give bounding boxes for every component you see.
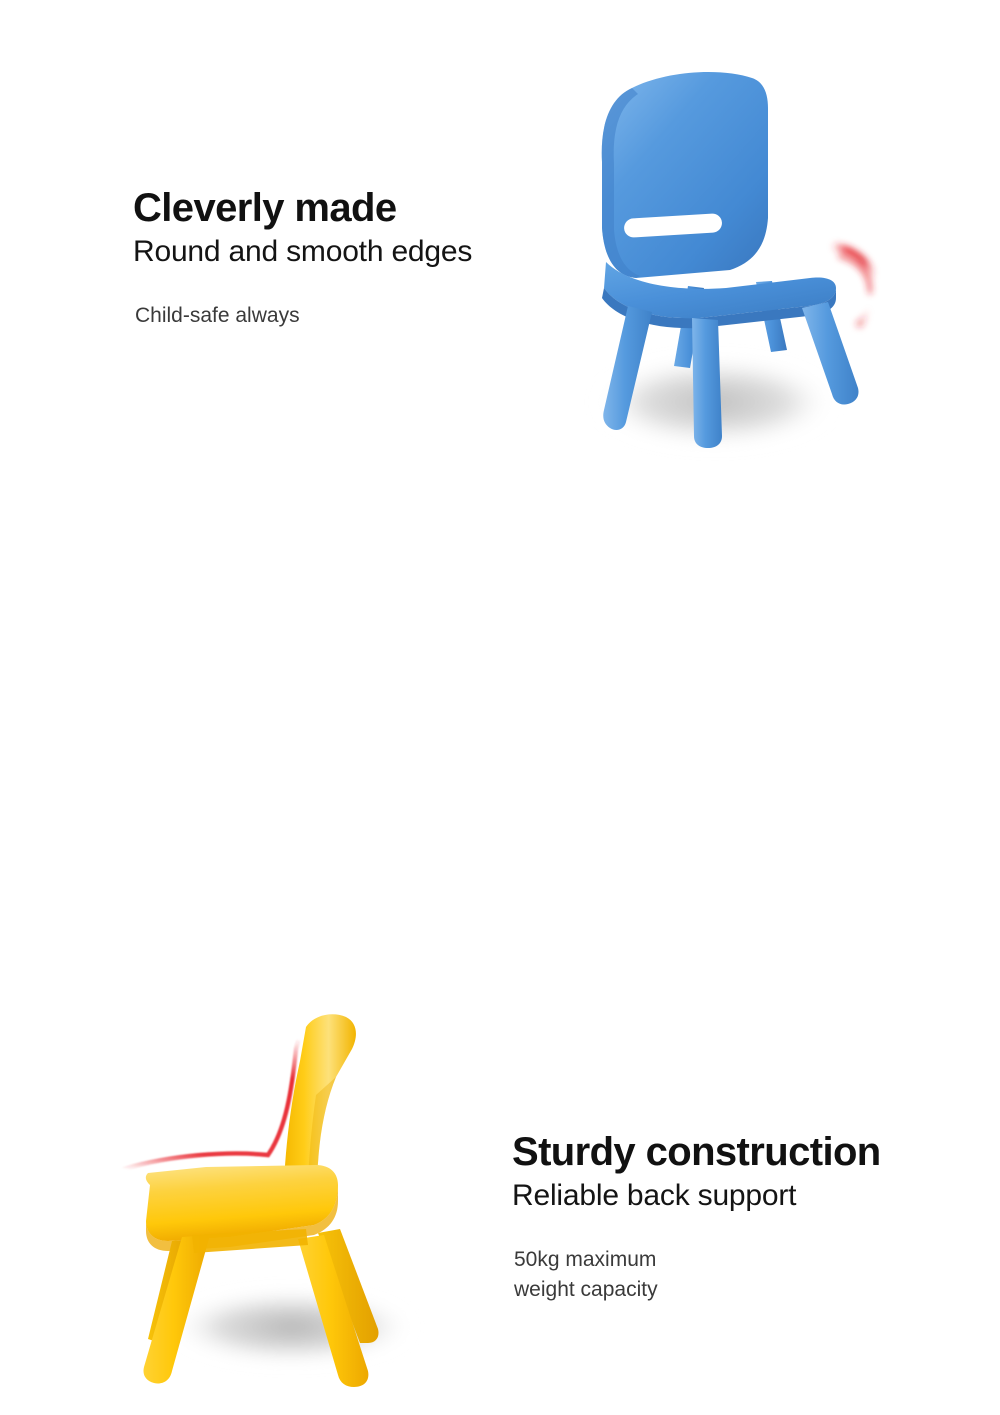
- text-block-cleverly-made: Cleverly made Round and smooth edges Chi…: [133, 188, 553, 331]
- panel-cleverly-made: Cleverly made Round and smooth edges Chi…: [0, 0, 1000, 500]
- panel-sturdy-construction: Sturdy construction Reliable back suppor…: [0, 500, 1000, 1000]
- subhead-sturdy-construction: Reliable back support: [512, 1178, 952, 1213]
- subhead-cleverly-made: Round and smooth edges: [133, 234, 553, 269]
- chair-leg-front-middle: [692, 318, 722, 448]
- body-text-sturdy-construction: 50kg maximum weight capacity: [514, 1245, 952, 1305]
- accent-arc-red: [832, 246, 876, 324]
- headline-sturdy-construction: Sturdy construction: [512, 1132, 952, 1174]
- product-image-yellow-chair: [110, 1005, 470, 1415]
- product-image-blue-chair: [540, 50, 900, 470]
- headline-cleverly-made: Cleverly made: [133, 188, 553, 230]
- chair-shadow: [170, 1291, 414, 1363]
- body-text-cleverly-made: Child-safe always: [135, 301, 553, 331]
- text-block-sturdy-construction: Sturdy construction Reliable back suppor…: [512, 1132, 952, 1305]
- body-line: weight capacity: [514, 1275, 952, 1305]
- body-line: Child-safe always: [135, 301, 553, 331]
- body-line: 50kg maximum: [514, 1245, 952, 1275]
